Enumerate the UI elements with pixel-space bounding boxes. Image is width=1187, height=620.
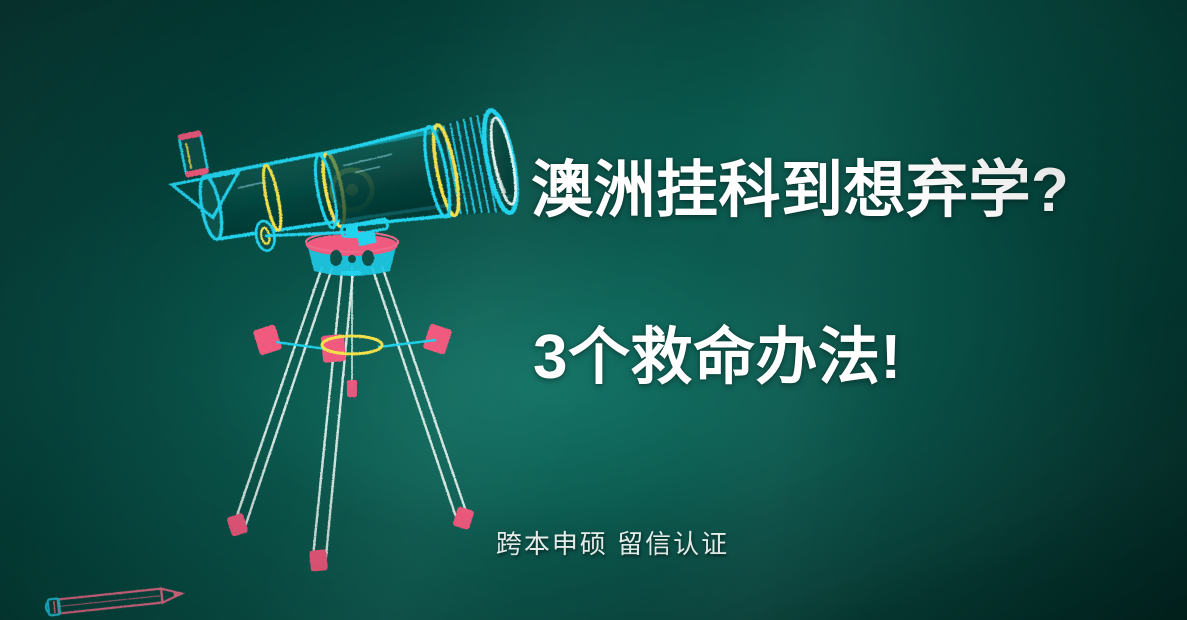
headline-line-1: 澳洲挂科到想弃学?: [531, 158, 1131, 225]
telescope-illustration: [150, 95, 590, 545]
footer-block: 跨本申硕 留信认证: [0, 524, 1187, 561]
headline-line-2: 3个救命办法!: [533, 325, 1133, 392]
subheadline-block: 3个救命办法!: [533, 325, 1133, 392]
poster-canvas: 澳洲挂科到想弃学? 3个救命办法! 跨本申硕 留信认证: [0, 0, 1187, 620]
pencil-illustration: [30, 572, 210, 620]
footer-tagline: 跨本申硕 留信认证: [496, 524, 729, 561]
headline-block: 澳洲挂科到想弃学?: [531, 158, 1131, 225]
